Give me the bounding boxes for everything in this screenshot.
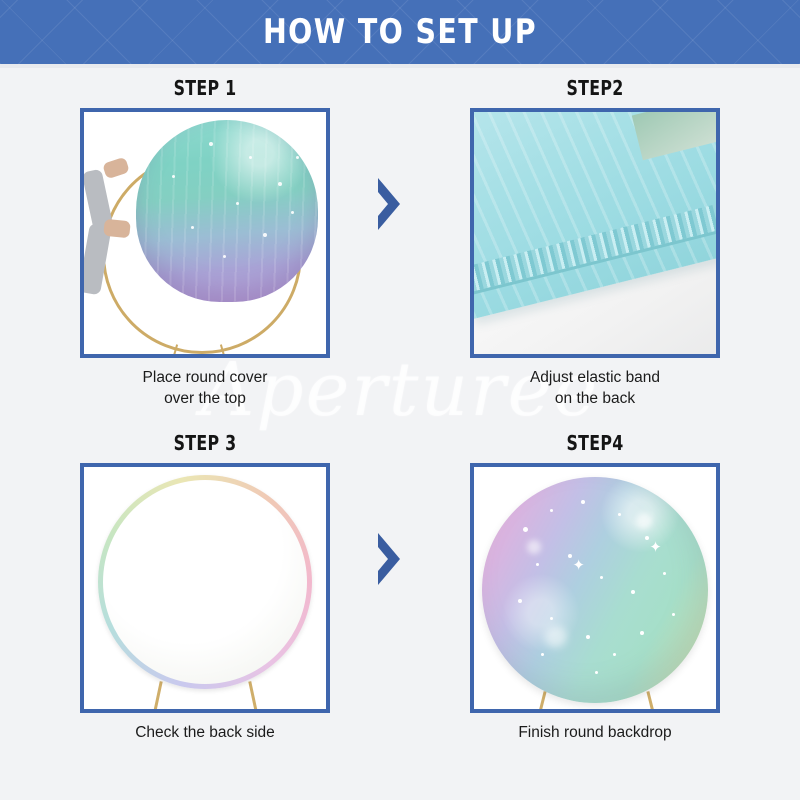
backdrop-leg-left <box>152 681 162 713</box>
page-title: HOW TO SET UP <box>28 0 772 64</box>
finished-backdrop-disc: ✦ ✦ <box>482 477 708 703</box>
sparkle-star-2: ✦ <box>649 540 662 555</box>
step-card-3: STEP 3 Check the back side <box>40 431 370 743</box>
person-hand-upper <box>102 157 130 180</box>
step-caption-3: Check the back side <box>40 722 370 743</box>
step-1-illustration <box>84 112 326 354</box>
finished-leg-right <box>646 691 656 713</box>
step-2-illustration <box>474 112 716 354</box>
chevron-right-icon <box>372 176 406 232</box>
step-caption-1: Place round cover over the top <box>40 367 370 409</box>
step-title-4: STEP4 <box>450 431 740 455</box>
step-image-frame-1 <box>80 108 330 358</box>
backdrop-leg-right <box>248 681 258 713</box>
person-hand-lower <box>103 219 131 239</box>
step-image-frame-3 <box>80 463 330 713</box>
step-caption-2-line-2: on the back <box>430 388 760 409</box>
step-3-illustration <box>84 467 326 709</box>
step-title-1: STEP 1 <box>60 76 350 100</box>
step-card-2: STEP2 Adjust elastic band on the back <box>430 76 760 409</box>
page-header: HOW TO SET UP <box>0 0 800 64</box>
step-caption-1-line-1: Place round cover <box>40 367 370 388</box>
step-caption-4-line-1: Finish round backdrop <box>430 722 760 743</box>
infographic-page: HOW TO SET UP Aperturee STEP 1 <box>0 0 800 800</box>
step-title-2: STEP2 <box>450 76 740 100</box>
chevron-right-icon <box>372 531 406 587</box>
step-card-1: STEP 1 <box>40 76 370 409</box>
step-card-4: STEP4 <box>430 431 760 743</box>
steps-grid: STEP 1 <box>0 68 800 800</box>
step-caption-4: Finish round backdrop <box>430 722 760 743</box>
step-image-frame-2 <box>470 108 720 358</box>
step-caption-3-line-1: Check the back side <box>40 722 370 743</box>
backdrop-back-face <box>103 480 307 684</box>
finished-leg-left <box>536 691 546 713</box>
step-caption-2: Adjust elastic band on the back <box>430 367 760 409</box>
step-4-illustration: ✦ ✦ <box>474 467 716 709</box>
step-caption-1-line-2: over the top <box>40 388 370 409</box>
gradient-cover-fabric <box>136 120 318 302</box>
step-caption-2-line-1: Adjust elastic band <box>430 367 760 388</box>
sparkle-star-1: ✦ <box>572 558 585 573</box>
pastel-rim <box>98 475 312 689</box>
step-title-3: STEP 3 <box>60 431 350 455</box>
step-image-frame-4: ✦ ✦ <box>470 463 720 713</box>
